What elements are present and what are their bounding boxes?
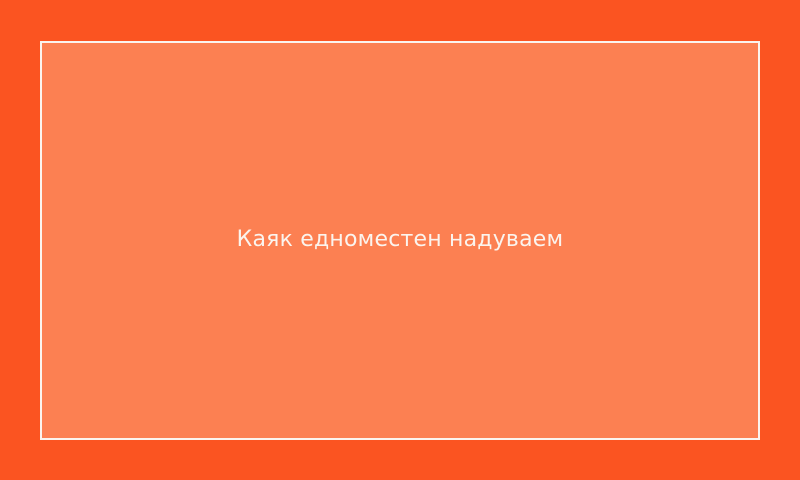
- bordered-panel: Каяк едноместен надуваем: [40, 41, 760, 440]
- placeholder-canvas: Каяк едноместен надуваем: [0, 0, 800, 480]
- placeholder-caption: Каяк едноместен надуваем: [237, 227, 564, 253]
